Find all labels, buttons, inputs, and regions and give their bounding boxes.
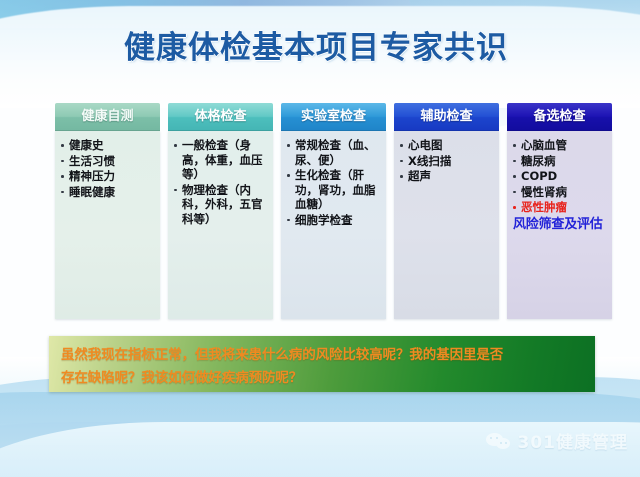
list-item: 慢性肾病 [511,185,609,200]
list-item: X线扫描 [398,154,496,169]
wechat-dot-4 [505,442,507,444]
list-item: 生活习惯 [59,154,157,169]
column-physical-exam: 体格检查 一般检查（身高，体重，血压等） 物理检查（内科，外科，五官科等） [168,103,273,319]
columns-container: 健康自测 健康史 生活习惯 精神压力 睡眠健康 体格检查 一般检查（身高，体重，… [55,103,610,319]
column-health-self-test: 健康自测 健康史 生活习惯 精神压力 睡眠健康 [55,103,160,319]
banner-line-1: 虽然我现在指标正常，但我将来患什么病的风险比较高呢？我的基因里是否 [49,336,595,367]
column-header-3: 实验室检查 [281,103,386,131]
slide-title: 健康体检基本项目专家共识 [124,22,508,67]
wechat-bubble-small [496,438,510,449]
list-item: 物理检查（内科，外科，五官科等） [172,183,270,227]
column-body-5: 心脑血管 糖尿病 COPD 慢性肾病 恶性肿瘤 风险筛查及评估 [507,131,612,319]
column-body-3: 常规检查（血、尿、便） 生化检查（肝功，肾功，血脂血糖） 细胞学检查 [281,131,386,319]
column-header-1: 健康自测 [55,103,160,131]
column-optional-exam: 备选检查 心脑血管 糖尿病 COPD 慢性肾病 恶性肿瘤 风险筛查及评估 [507,103,612,319]
list-item: 细胞学检查 [285,213,383,228]
column-auxiliary-exam: 辅助检查 心电图 X线扫描 超声 [394,103,499,319]
wechat-icon [486,431,512,451]
list-item: 一般检查（身高，体重，血压等） [172,138,270,182]
column-body-1: 健康史 生活习惯 精神压力 睡眠健康 [55,131,160,319]
column-body-2: 一般检查（身高，体重，血压等） 物理检查（内科，外科，五官科等） [168,131,273,319]
list-item: 常规检查（血、尿、便） [285,138,383,167]
column-header-5: 备选检查 [507,103,612,131]
banner-line-2: 存在缺陷呢？我该如何做好疾病预防呢？ [49,367,595,390]
column-list-2: 一般检查（身高，体重，血压等） 物理检查（内科，外科，五官科等） [172,138,270,226]
list-item: 健康史 [59,138,157,153]
watermark: 301健康管理 [486,428,629,453]
column-header-2: 体格检查 [168,103,273,131]
list-item: 心电图 [398,138,496,153]
list-item: 糖尿病 [511,154,609,169]
column-list-3: 常规检查（血、尿、便） 生化检查（肝功，肾功，血脂血糖） 细胞学检查 [285,138,383,227]
list-item: 超声 [398,169,496,184]
risk-screening-label: 风险筛查及评估 [511,217,609,233]
list-item: 精神压力 [59,169,157,184]
column-body-4: 心电图 X线扫描 超声 [394,131,499,319]
column-list-1: 健康史 生活习惯 精神压力 睡眠健康 [59,138,157,199]
list-item: 睡眠健康 [59,185,157,200]
list-item: COPD [511,169,609,184]
question-banner: 虽然我现在指标正常，但我将来患什么病的风险比较高呢？我的基因里是否 存在缺陷呢？… [49,336,595,392]
wechat-dot-1 [490,437,492,439]
list-item-highlight: 恶性肿瘤 [511,200,609,215]
column-header-4: 辅助检查 [394,103,499,131]
list-item: 生化检查（肝功，肾功，血脂血糖） [285,168,383,212]
watermark-text: 301健康管理 [518,428,629,453]
column-list-5: 心脑血管 糖尿病 COPD 慢性肾病 恶性肿瘤 [511,138,609,215]
list-item: 心脑血管 [511,138,609,153]
slide-canvas: 健康体检基本项目专家共识 健康自测 健康史 生活习惯 精神压力 睡眠健康 体格检… [0,0,640,477]
wechat-dot-3 [500,442,502,444]
wechat-dot-2 [496,437,498,439]
column-list-4: 心电图 X线扫描 超声 [398,138,496,184]
column-laboratory-exam: 实验室检查 常规检查（血、尿、便） 生化检查（肝功，肾功，血脂血糖） 细胞学检查 [281,103,386,319]
